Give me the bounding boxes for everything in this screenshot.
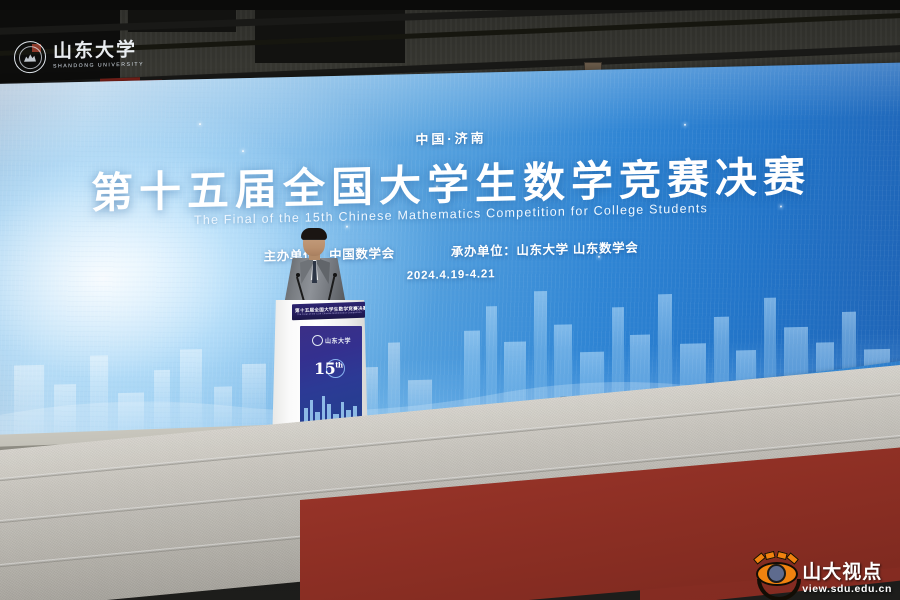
- eye-logo-icon: [752, 554, 798, 594]
- banner-date: 2024.4.19-4.21: [0, 258, 900, 292]
- banner-sparkle: [684, 124, 686, 126]
- sdu-logo-name-cn: 山东大学: [53, 41, 144, 62]
- anniversary-suffix: th: [335, 361, 342, 370]
- microphone-head: [296, 273, 300, 277]
- sdu-logo-name-en: SHANDONG UNIVERSITY: [53, 63, 144, 70]
- banner-sparkle: [199, 123, 201, 125]
- podium-header-strip: 第十五届全国大学生数学竞赛决赛 The Final of the 15th Ch…: [292, 302, 365, 321]
- banner-sparkle: [242, 150, 244, 152]
- banner-title-chinese: 第十五届全国大学生数学竞赛决赛: [0, 140, 900, 223]
- mountain-seal-icon: [14, 41, 46, 74]
- banner-sparkle: [598, 256, 600, 258]
- watermark: 山大视点 view.sdu.edu.cn: [752, 554, 892, 594]
- photo-scene: 中国·济南 第十五届全国大学生数学竞赛决赛 The Final of the 1…: [0, 0, 900, 600]
- mountain-seal-icon: [312, 335, 323, 346]
- podium-front-panel: 山东大学 15th: [300, 326, 362, 424]
- ceiling-beam: [0, 0, 900, 10]
- watermark-url: view.sdu.edu.cn: [802, 584, 892, 595]
- banner-sparkle: [780, 205, 782, 207]
- podium-anniversary-number: 15th: [314, 359, 343, 378]
- banner-organizer-label: 承办单位：山东大学 山东数学会: [451, 241, 638, 259]
- banner-organizer-row: 主办单位：中国数学会 承办单位：山东大学 山东数学会: [0, 230, 900, 271]
- podium-sdu-name: 山东大学: [325, 336, 351, 345]
- banner-city-line: 中国·济南: [0, 117, 900, 158]
- anniversary-value: 15: [314, 359, 335, 378]
- sdu-logo: 山东大学 SHANDONG UNIVERSITY: [14, 39, 144, 74]
- banner-sparkle: [436, 186, 438, 188]
- banner-title-english: The Final of the 15th Chinese Mathematic…: [0, 196, 900, 232]
- microphone-head: [333, 273, 337, 277]
- podium-sdu-logo: 山东大学: [312, 335, 351, 346]
- watermark-name: 山大视点: [802, 563, 882, 582]
- glasses-icon: [304, 239, 324, 244]
